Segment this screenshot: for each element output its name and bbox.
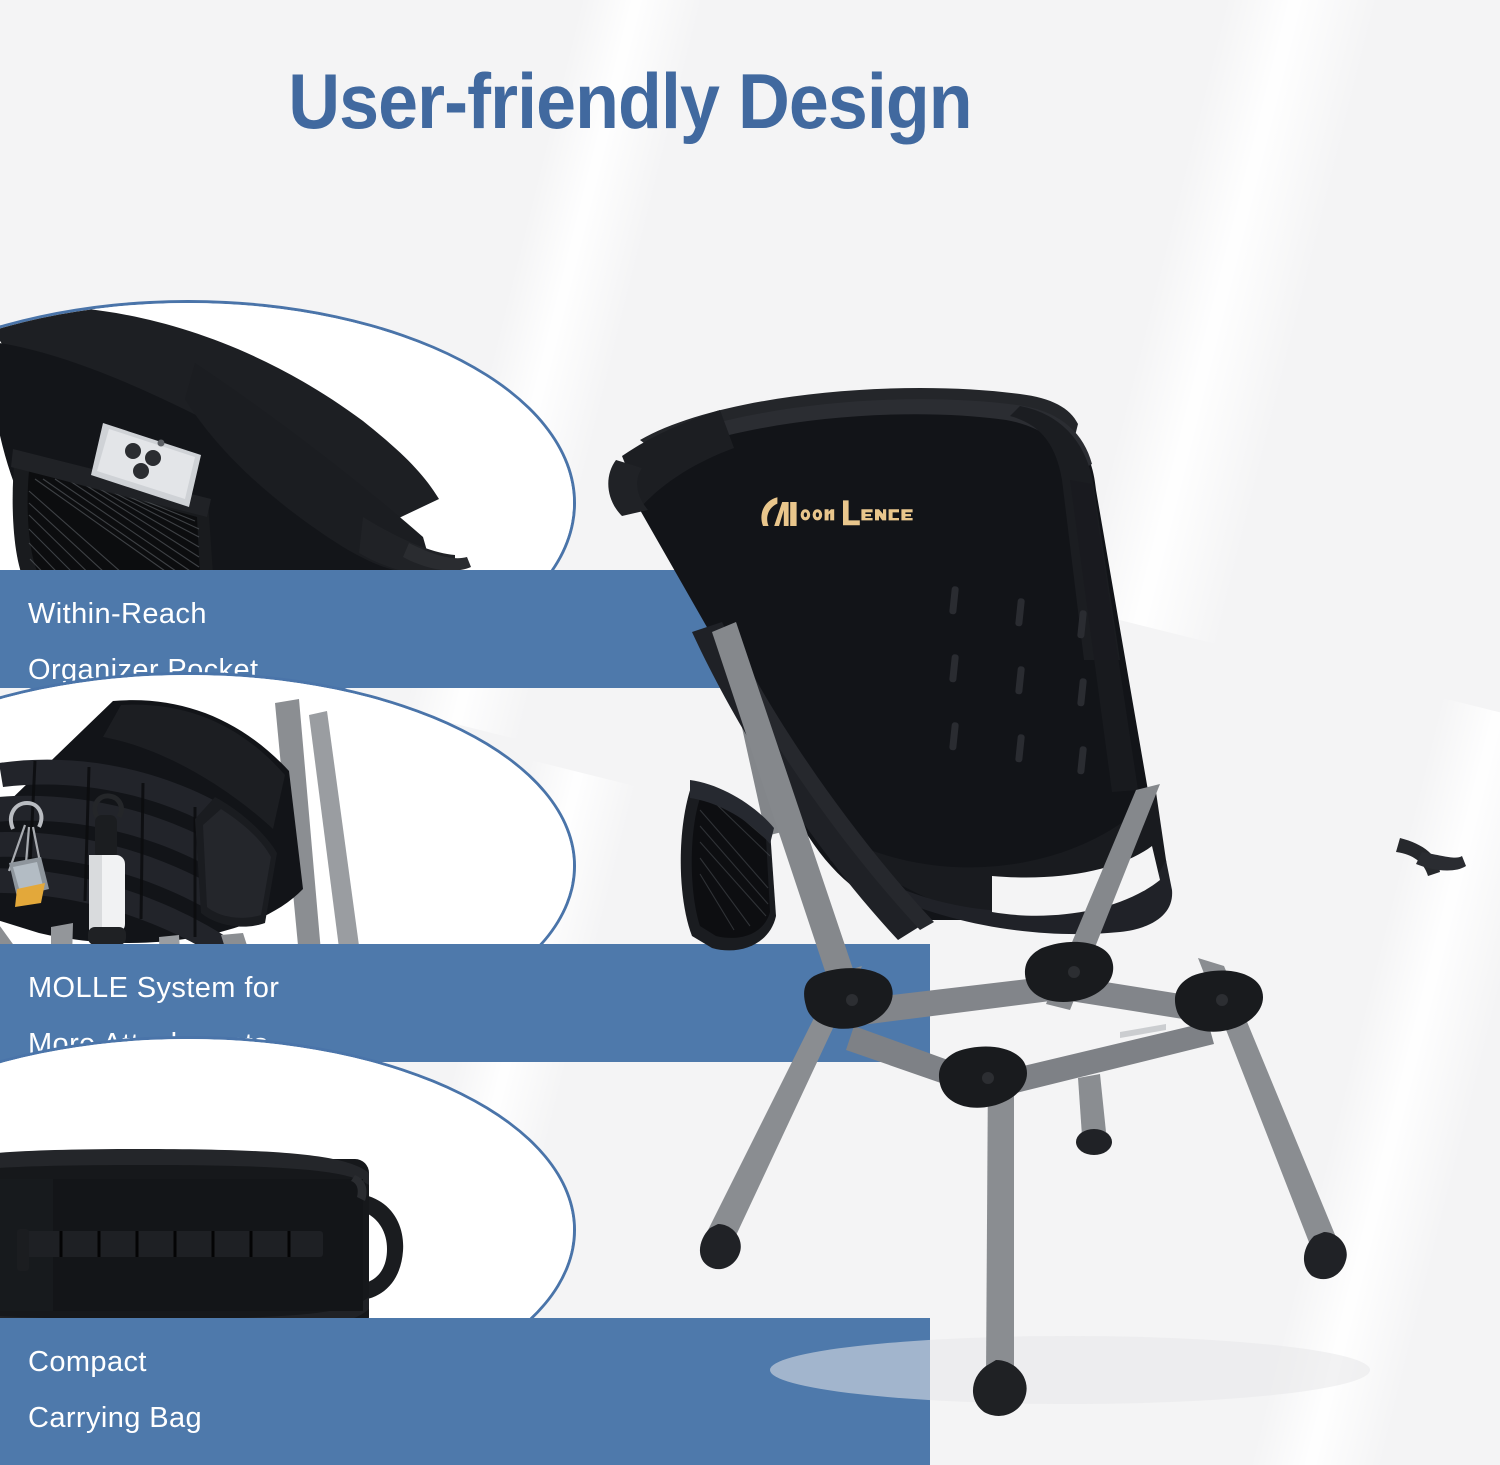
main-chair-product-photo (600, 360, 1500, 1450)
carrying-bag-label: Compact Carrying Bag (0, 1318, 615, 1465)
carrying-bag-label-line1: Compact (28, 1334, 615, 1390)
organizer-pocket-label-line1: Within-Reach (28, 586, 615, 642)
organizer-pocket-label: Within-Reach Organizer Pocket (0, 570, 615, 688)
page-title: User-friendly Design (50, 62, 1209, 140)
carrying-bag-label-line2: Carrying Bag (28, 1390, 615, 1446)
infographic-canvas: User-friendly Design (0, 0, 1500, 1465)
molle-system-label-line1: MOLLE System for (28, 960, 615, 1016)
